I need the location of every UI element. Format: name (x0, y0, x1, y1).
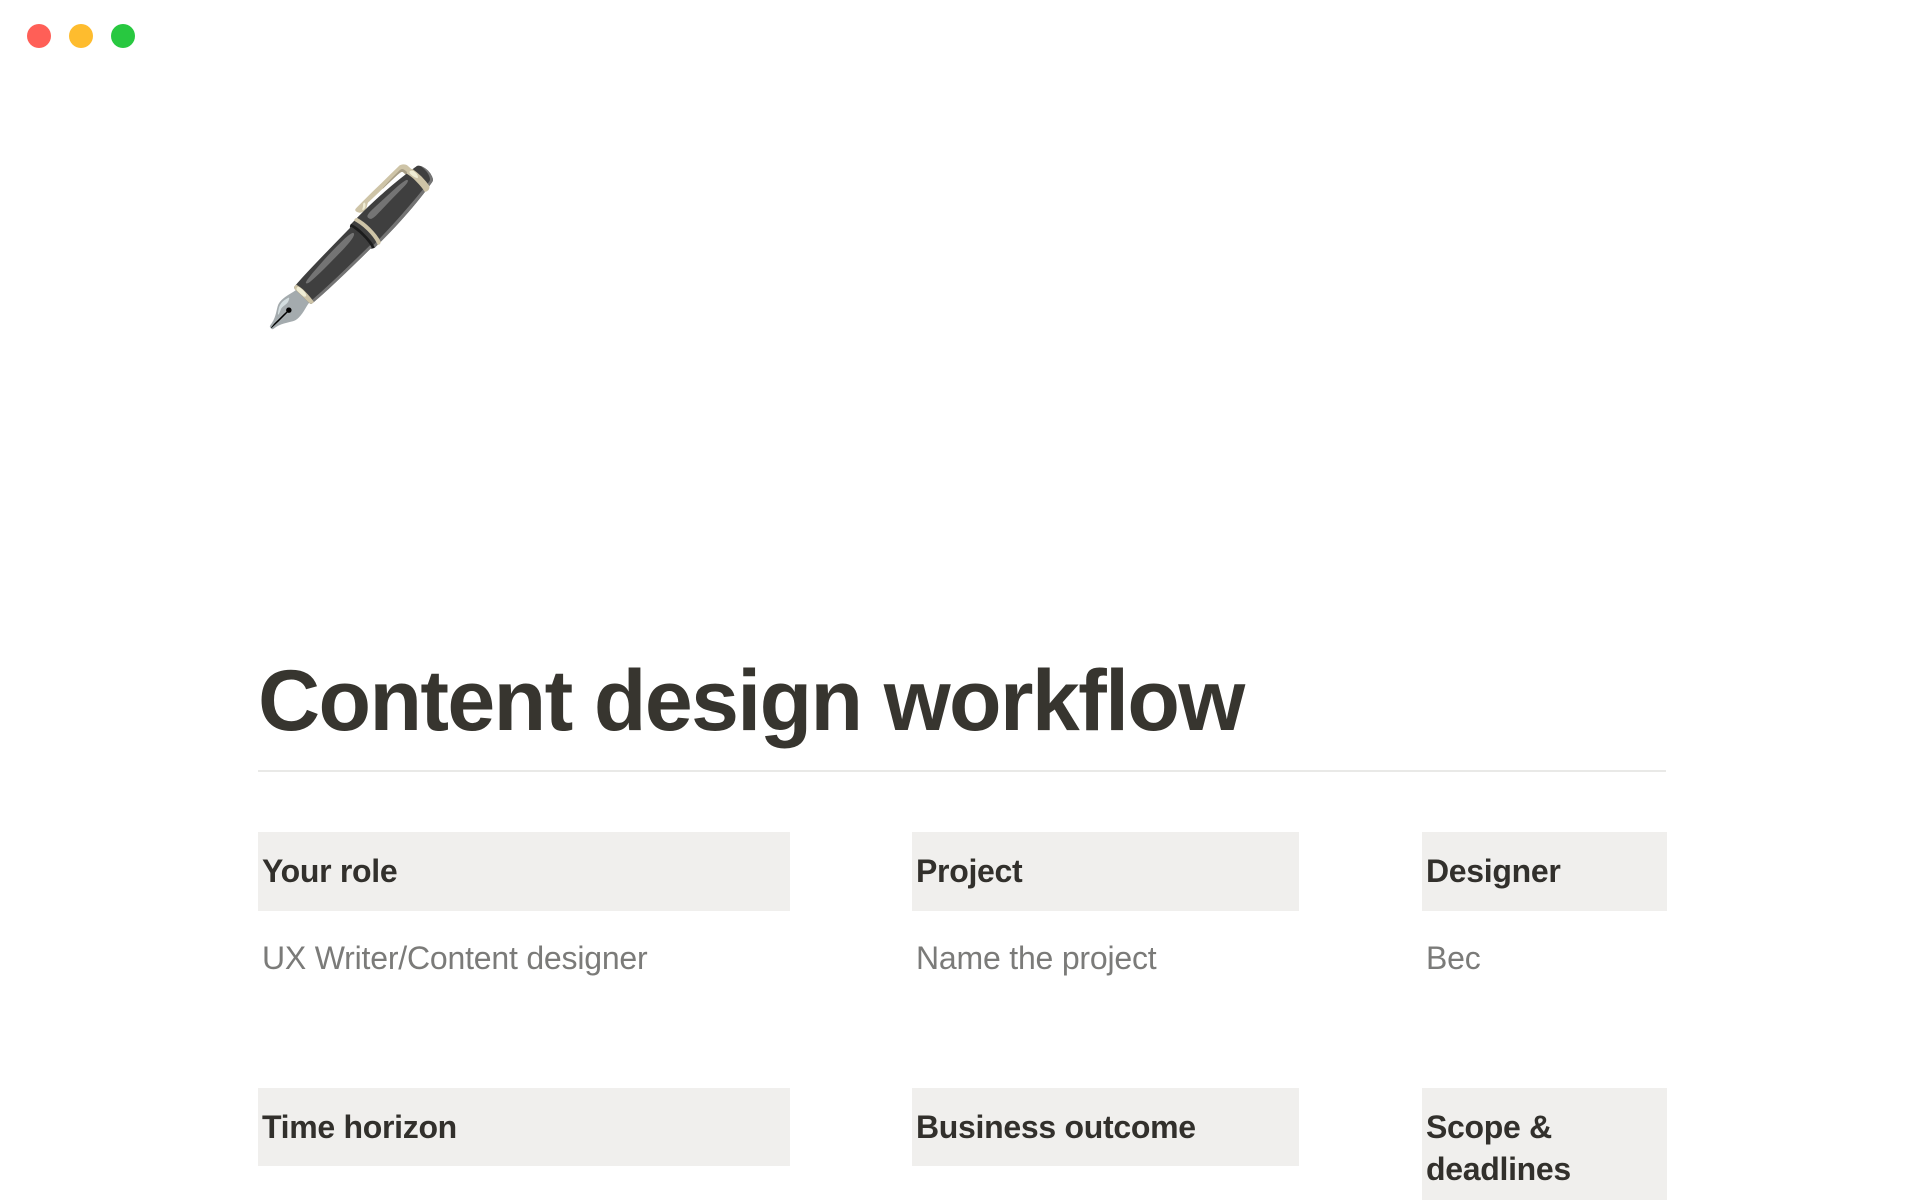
field-business-outcome: Business outcome e.g. Increase (912, 1088, 1299, 1200)
field-time-horizon: Time horizon e.g. 2 weeks to research, (258, 1088, 790, 1200)
traffic-light-controls (27, 24, 135, 48)
field-scope-deadlines: Scope & deadlines (1422, 1088, 1667, 1200)
field-project: Project Name the project (912, 832, 1299, 980)
field-header-scope-deadlines[interactable]: Scope & deadlines (1422, 1088, 1667, 1200)
field-grid: Your role UX Writer/Content designer Pro… (258, 832, 1668, 1200)
fountain-pen-emoji-icon[interactable]: 🖋️ (258, 172, 445, 322)
app-window: 🖋️ Content design workflow Your role UX … (0, 0, 1920, 1200)
field-value-project[interactable]: Name the project (912, 911, 1299, 980)
close-button[interactable] (27, 24, 51, 48)
maximize-button[interactable] (111, 24, 135, 48)
window-titlebar (0, 0, 1920, 62)
minimize-button[interactable] (69, 24, 93, 48)
field-designer: Designer Bec (1422, 832, 1667, 980)
field-value-designer[interactable]: Bec (1422, 911, 1667, 980)
field-row-1: Your role UX Writer/Content designer Pro… (258, 832, 1668, 980)
field-header-project[interactable]: Project (912, 832, 1299, 911)
field-your-role: Your role UX Writer/Content designer (258, 832, 790, 980)
field-row-2: Time horizon e.g. 2 weeks to research, B… (258, 1088, 1668, 1200)
page-title[interactable]: Content design workflow (258, 655, 1678, 748)
field-header-business-outcome[interactable]: Business outcome (912, 1088, 1299, 1167)
field-header-your-role[interactable]: Your role (258, 832, 790, 911)
horizontal-divider (258, 770, 1666, 772)
document-canvas: 🖋️ Content design workflow Your role UX … (0, 62, 1920, 1200)
field-value-business-outcome[interactable]: e.g. Increase (912, 1166, 1299, 1200)
field-header-designer[interactable]: Designer (1422, 832, 1667, 911)
field-value-time-horizon[interactable]: e.g. 2 weeks to research, (258, 1166, 790, 1200)
field-value-your-role[interactable]: UX Writer/Content designer (258, 911, 790, 980)
field-header-time-horizon[interactable]: Time horizon (258, 1088, 790, 1167)
